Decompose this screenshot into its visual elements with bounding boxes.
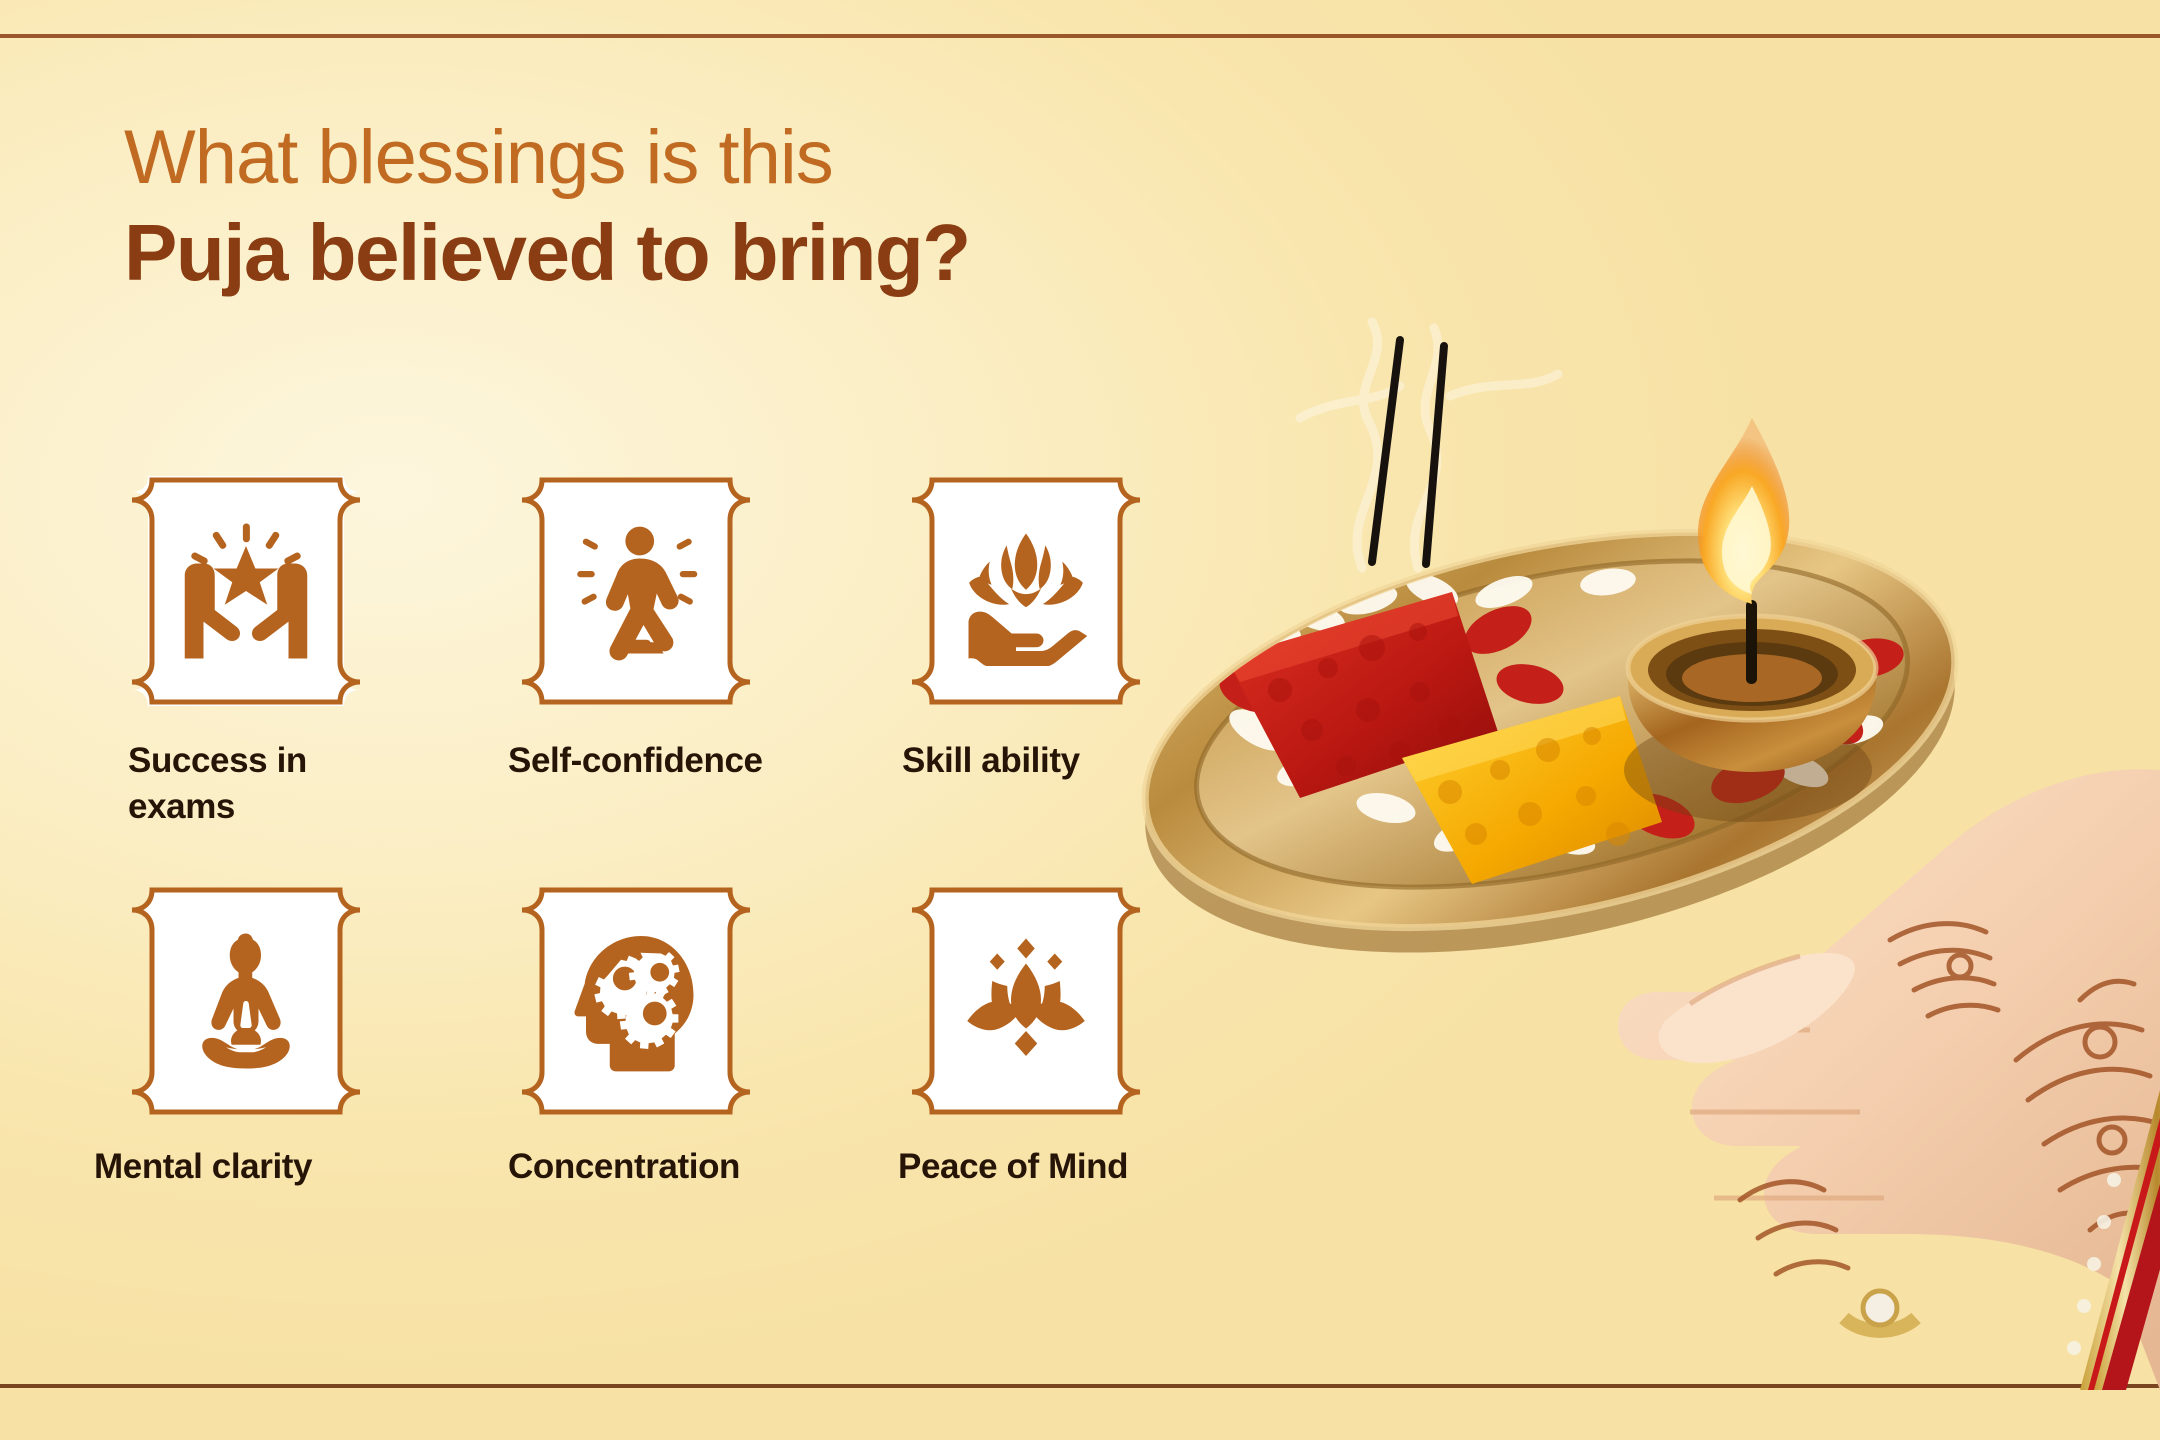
benefit-item-self-confidence[interactable]: Self-confidence — [508, 466, 764, 830]
benefit-item-concentration[interactable]: Concentration — [508, 876, 764, 1190]
page-title: What blessings is this Puja believed to … — [124, 118, 1324, 297]
benefit-item-mental-clarity[interactable]: Mental clarity — [94, 876, 350, 1190]
poster: What blessings is this Puja believed to … — [0, 0, 2160, 1440]
benefit-label: Self-confidence — [508, 738, 764, 784]
benefit-label: Success in exams — [118, 738, 374, 830]
blessing-hands-star-icon — [171, 516, 321, 666]
title-line-2: Puja believed to bring? — [124, 209, 1324, 297]
benefit-card — [118, 466, 374, 716]
puja-thali-illustration — [1100, 300, 2160, 1390]
benefit-card — [508, 876, 764, 1126]
head-with-gears-icon — [561, 926, 711, 1076]
hand-holding-lotus-icon — [951, 516, 1101, 666]
confident-person-icon — [561, 516, 711, 666]
benefit-label: Mental clarity — [94, 1144, 350, 1190]
benefit-card — [118, 876, 374, 1126]
top-divider — [0, 34, 2160, 38]
lotus-ornament-icon — [951, 926, 1101, 1076]
benefits-grid: Success in exams — [118, 466, 1154, 1191]
benefit-item-success-in-exams[interactable]: Success in exams — [118, 466, 374, 830]
ring-icon — [1844, 1291, 1916, 1331]
hand-holding-puja-thali-photo — [1100, 300, 2160, 1390]
title-line-1: What blessings is this — [124, 118, 1324, 199]
benefit-label: Concentration — [508, 1144, 764, 1190]
benefit-card — [508, 466, 764, 716]
meditating-person-icon — [171, 926, 321, 1076]
